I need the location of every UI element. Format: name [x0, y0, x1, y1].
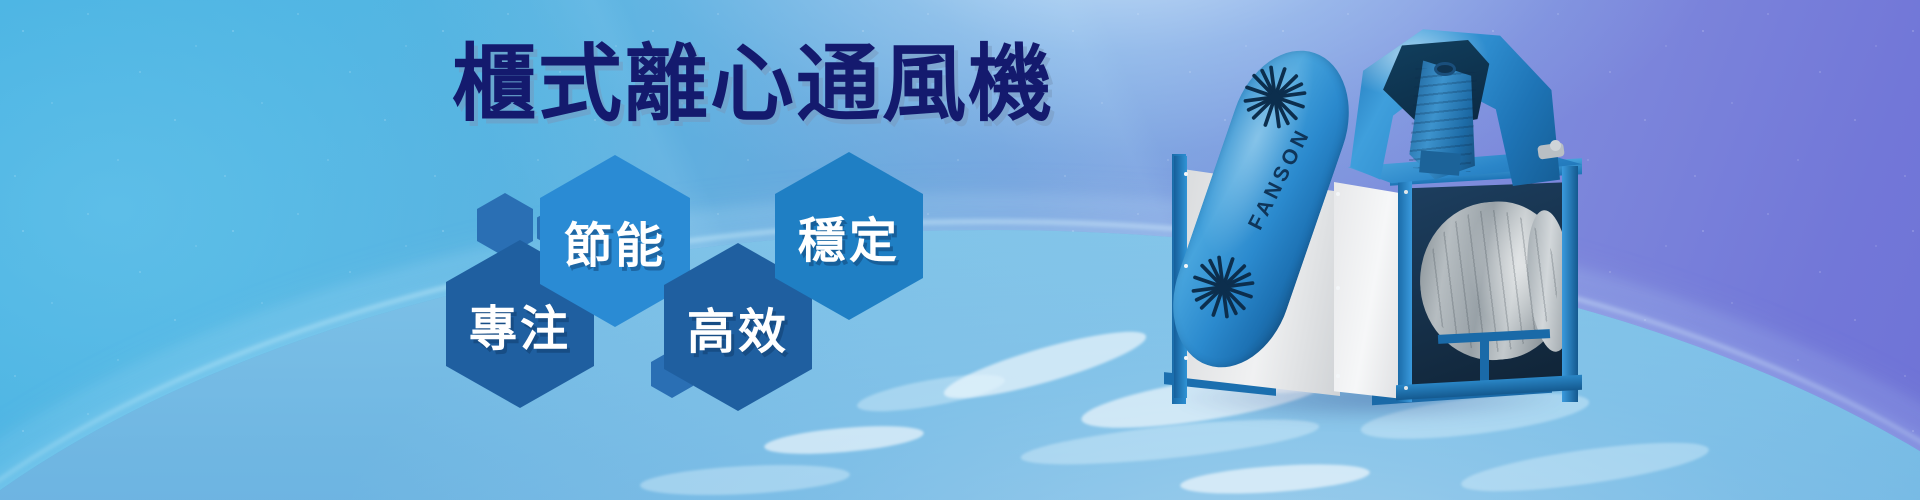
- bolt-4: [1336, 192, 1340, 196]
- hex-focus-label: 專注: [469, 289, 571, 359]
- frame-post-mid: [1398, 174, 1412, 402]
- product-banner: 櫃式離心通風機 專注 節能 高效 穩定: [0, 0, 1920, 500]
- bolt-2: [1184, 264, 1188, 268]
- hex-energy-saving-label: 節能: [564, 206, 666, 276]
- hex-stable-label: 穩定: [798, 201, 900, 271]
- bolt-5: [1336, 286, 1340, 290]
- bolt-8: [1404, 386, 1408, 390]
- motor-flange-ring: [1434, 62, 1456, 76]
- motor-terminal-box: [1419, 150, 1461, 175]
- top-fitting-knob: [1550, 140, 1561, 151]
- bolt-6: [1336, 374, 1340, 378]
- bolt-1: [1184, 172, 1188, 176]
- hex-high-efficiency-label: 高效: [687, 292, 789, 362]
- bolt-3: [1184, 356, 1188, 360]
- bolt-7: [1404, 190, 1408, 194]
- frame-post-right: [1562, 166, 1578, 402]
- page-title: 櫃式離心通風機: [452, 42, 1054, 126]
- product-image-centrifugal-fan: FANSON: [1150, 14, 1580, 424]
